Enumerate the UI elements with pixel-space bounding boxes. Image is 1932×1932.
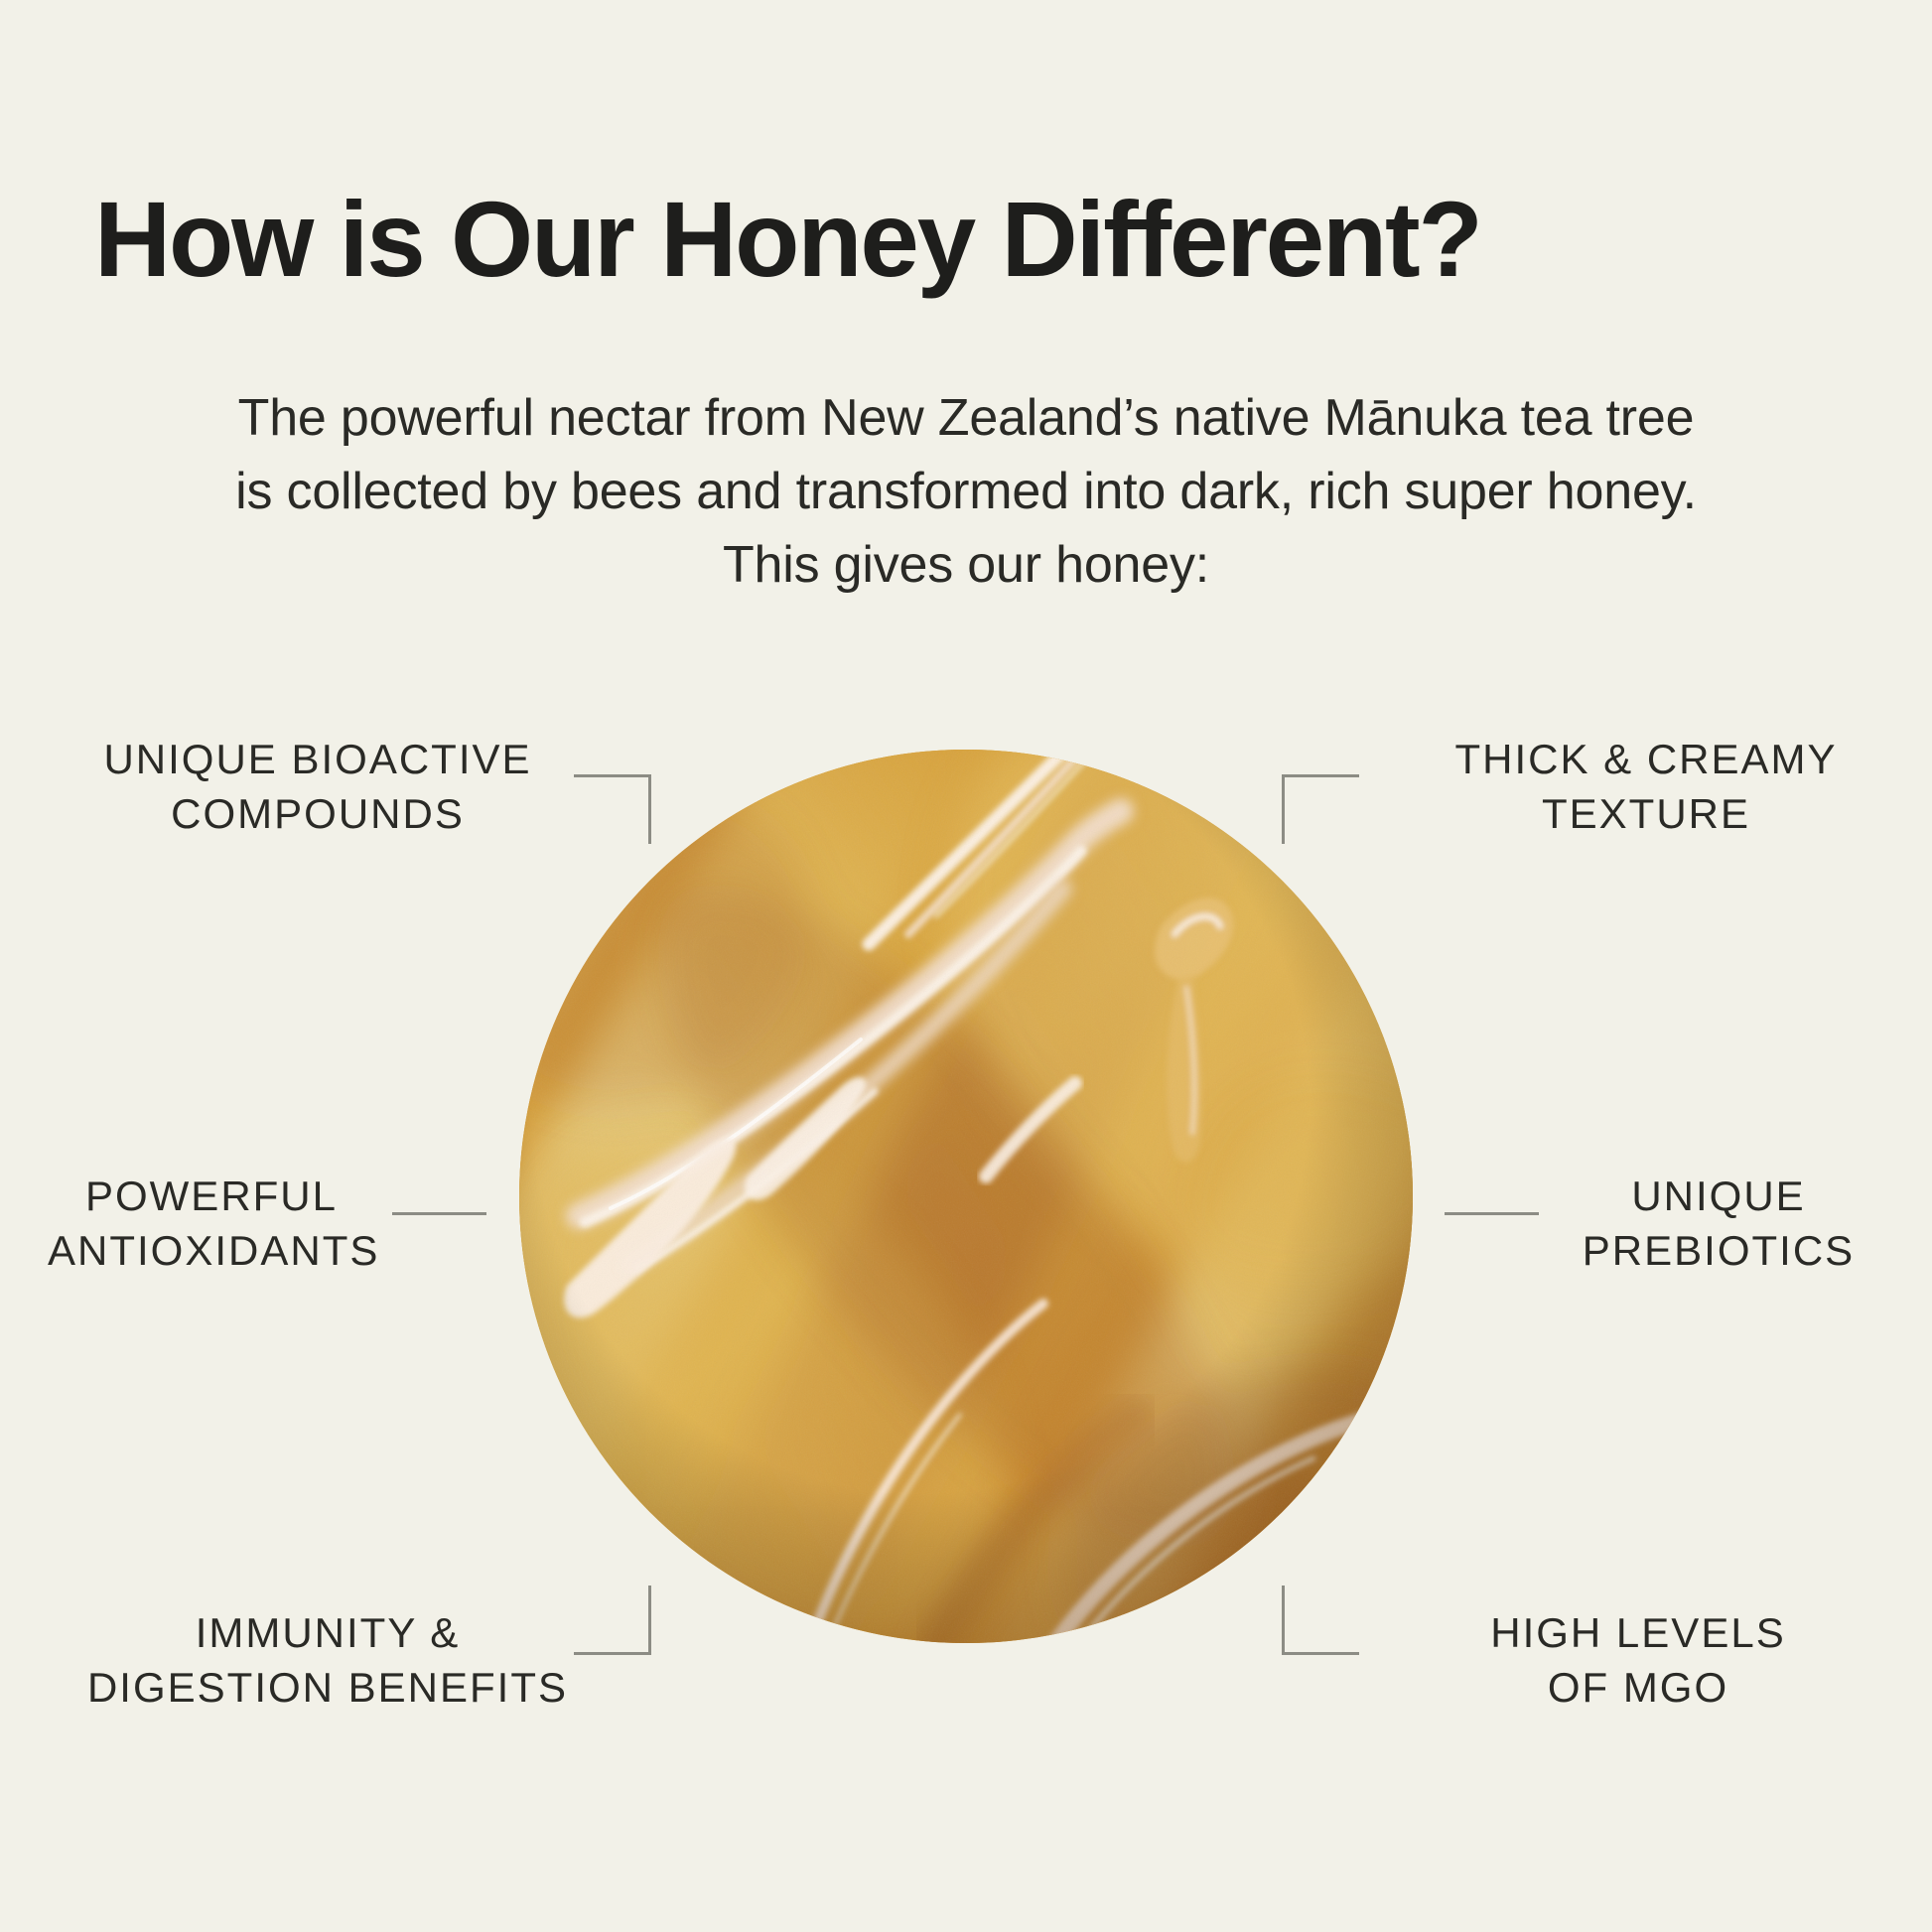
callout-line: UNIQUE BIOACTIVE <box>60 733 576 787</box>
connector-antioxidants <box>392 1212 486 1215</box>
connector-bioactive-horizontal <box>574 774 651 777</box>
callout-line: IMMUNITY & <box>60 1606 596 1661</box>
callout-line: TEXTURE <box>1388 787 1904 842</box>
connector-mgo-horizontal <box>1282 1652 1359 1655</box>
callout-unique-prebiotics: UNIQUE PREBIOTICS <box>1555 1170 1882 1278</box>
subtitle-line-1: The powerful nectar from New Zealand’s n… <box>0 382 1932 456</box>
callout-thick-creamy-texture: THICK & CREAMY TEXTURE <box>1388 733 1904 841</box>
subtitle-line-3: This gives our honey: <box>0 529 1932 603</box>
callout-powerful-antioxidants: POWERFUL ANTIOXIDANTS <box>48 1170 375 1278</box>
callout-line: THICK & CREAMY <box>1388 733 1904 787</box>
callout-unique-bioactive-compounds: UNIQUE BIOACTIVE COMPOUNDS <box>60 733 576 841</box>
callout-line: ANTIOXIDANTS <box>48 1224 375 1279</box>
callout-line: DIGESTION BENEFITS <box>60 1661 596 1716</box>
connector-prebiotics <box>1445 1212 1539 1215</box>
connector-immunity-vertical <box>648 1586 651 1655</box>
page-subtitle: The powerful nectar from New Zealand’s n… <box>0 382 1932 602</box>
connector-bioactive-vertical <box>648 774 651 844</box>
callout-line: PREBIOTICS <box>1555 1224 1882 1279</box>
page-title: How is Our Honey Different? <box>94 184 1481 295</box>
connector-texture-vertical <box>1282 774 1285 844</box>
subtitle-line-2: is collected by bees and transformed int… <box>0 456 1932 529</box>
connector-texture-horizontal <box>1282 774 1359 777</box>
callout-line: UNIQUE <box>1555 1170 1882 1224</box>
callout-line: POWERFUL <box>48 1170 375 1224</box>
callout-immunity-digestion-benefits: IMMUNITY & DIGESTION BENEFITS <box>60 1606 596 1715</box>
callout-line: HIGH LEVELS <box>1390 1606 1886 1661</box>
callout-high-levels-of-mgo: HIGH LEVELS OF MGO <box>1390 1606 1886 1715</box>
connector-mgo-vertical <box>1282 1586 1285 1655</box>
callout-line: OF MGO <box>1390 1661 1886 1716</box>
callout-line: COMPOUNDS <box>60 787 576 842</box>
honey-texture-image <box>519 750 1413 1643</box>
